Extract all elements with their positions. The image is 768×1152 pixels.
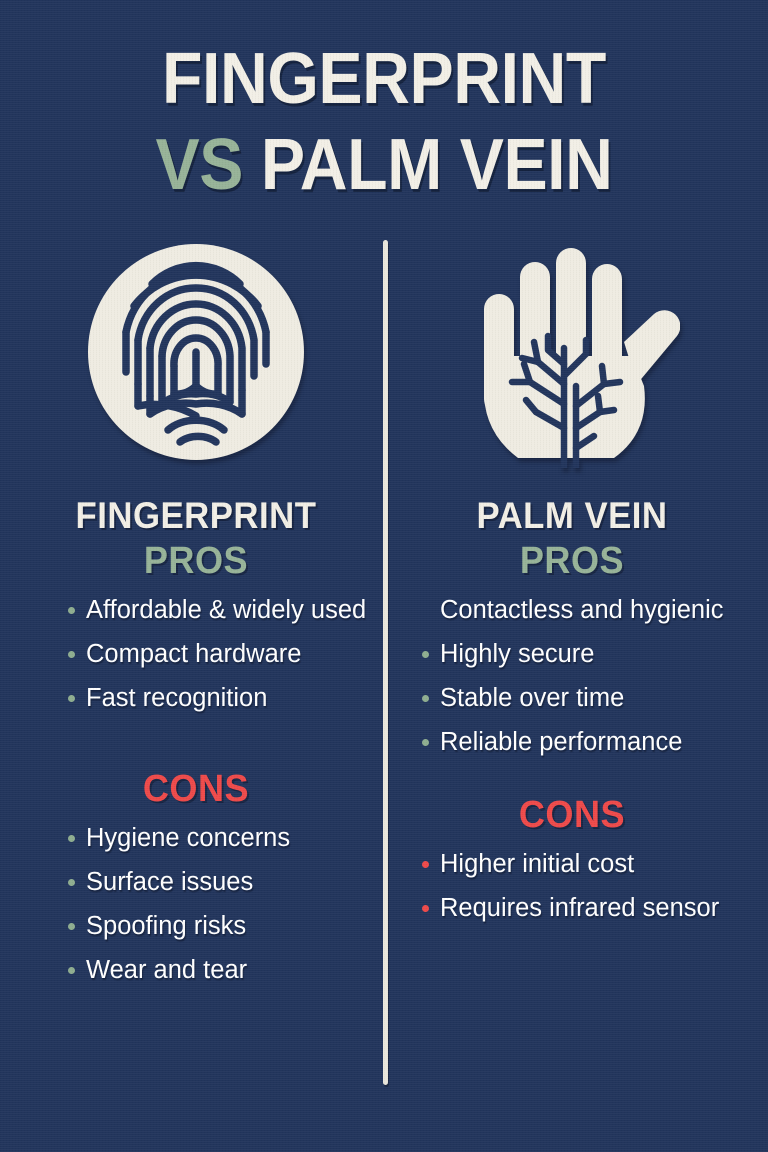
list-item-text: Spoofing risks xyxy=(86,912,246,940)
cons-list-palm-vein: Higher initial cost Requires infrared se… xyxy=(412,848,752,925)
title-line-2-rest: PALM VEIN xyxy=(261,125,613,205)
bullet-dot-icon xyxy=(68,835,75,842)
cons-heading-palm-vein: CONS xyxy=(401,792,743,838)
bullet-dot-icon xyxy=(422,651,429,658)
list-item: Affordable & widely used xyxy=(58,594,376,627)
bullet-dot-icon xyxy=(68,695,75,702)
title-vs-accent: VS xyxy=(155,125,242,205)
fingerprint-icon-wrap xyxy=(16,236,376,468)
list-item-text: Highly secure xyxy=(440,640,594,668)
pros-list-palm-vein: Contactless and hygienic Highly secure S… xyxy=(412,594,752,759)
bullet-dot-icon xyxy=(422,739,429,746)
list-item: Hygiene concerns xyxy=(58,822,376,855)
list-item: Contactless and hygienic xyxy=(412,594,752,627)
bullet-dot-icon xyxy=(422,861,429,868)
bullet-dot-icon xyxy=(68,879,75,886)
list-item-text: Reliable performance xyxy=(440,728,682,756)
bullet-dot-icon xyxy=(68,607,75,614)
list-item-text: Compact hardware xyxy=(86,640,301,668)
pros-list-fingerprint: Affordable & widely used Compact hardwar… xyxy=(58,594,376,715)
title-line-2: VS PALM VEIN xyxy=(31,122,738,208)
column-fingerprint: FINGERPRINT PROS Affordable & widely use… xyxy=(16,236,376,998)
list-item-text: Stable over time xyxy=(440,684,624,712)
bullet-dot-icon xyxy=(422,695,429,702)
fingerprint-icon xyxy=(88,244,304,460)
list-item-text: Fast recognition xyxy=(86,684,267,712)
list-item-text: Contactless and hygienic xyxy=(440,596,724,624)
cons-list-fingerprint: Hygiene concerns Surface issues Spoofing… xyxy=(58,822,376,987)
palm-vein-hand-icon xyxy=(464,236,680,468)
list-item-text: Higher initial cost xyxy=(440,850,634,878)
list-item: Stable over time xyxy=(412,682,752,715)
column-heading-fingerprint: FINGERPRINT xyxy=(27,494,365,538)
list-item-text: Affordable & widely used xyxy=(86,596,366,624)
list-item: Higher initial cost xyxy=(412,848,752,881)
palm-vein-icon-wrap xyxy=(392,236,752,468)
column-heading-palm-vein: PALM VEIN xyxy=(403,494,741,538)
bullet-dot-icon xyxy=(68,923,75,930)
cons-heading-fingerprint: CONS xyxy=(25,766,367,812)
title-line-1: FINGERPRINT xyxy=(31,36,738,122)
list-item-text: Hygiene concerns xyxy=(86,824,290,852)
column-divider xyxy=(383,240,388,1085)
list-item-text: Wear and tear xyxy=(86,956,247,984)
spacer xyxy=(16,726,376,766)
list-item: Highly secure xyxy=(412,638,752,671)
list-item: Spoofing risks xyxy=(58,910,376,943)
list-item: Surface issues xyxy=(58,866,376,899)
list-item-text: Requires infrared sensor xyxy=(440,894,719,922)
spacer xyxy=(392,770,752,792)
pros-heading-fingerprint: PROS xyxy=(25,538,367,584)
list-item: Requires infrared sensor xyxy=(412,892,752,925)
bullet-dot-icon xyxy=(68,651,75,658)
list-item: Reliable performance xyxy=(412,726,752,759)
column-palm-vein: PALM VEIN PROS Contactless and hygienic … xyxy=(392,236,752,936)
list-item: Wear and tear xyxy=(58,954,376,987)
pros-heading-palm-vein: PROS xyxy=(401,538,743,584)
bullet-dot-icon xyxy=(68,967,75,974)
bullet-dot-icon xyxy=(422,905,429,912)
page-title: FINGERPRINT VS PALM VEIN xyxy=(0,36,768,208)
list-item: Compact hardware xyxy=(58,638,376,671)
list-item-text: Surface issues xyxy=(86,868,253,896)
list-item: Fast recognition xyxy=(58,682,376,715)
